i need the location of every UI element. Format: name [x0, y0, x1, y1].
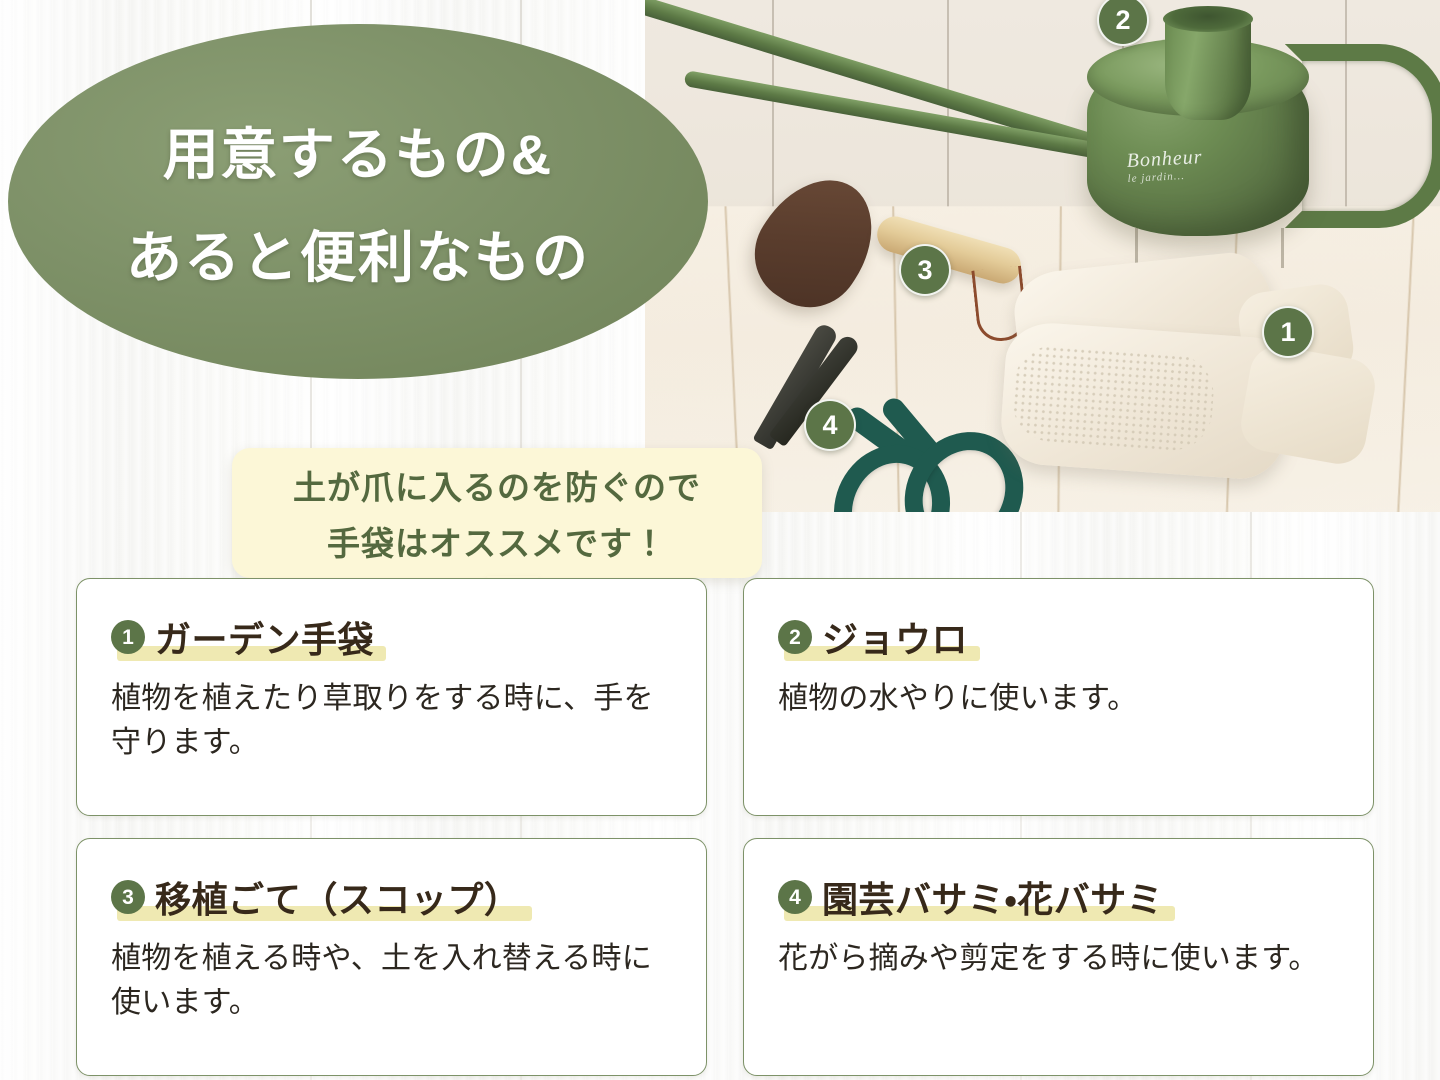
item-card-1-body: 植物を植えたり草取りをする時に、手を守ります。	[111, 677, 672, 766]
item-card-1-badge: 1	[111, 620, 145, 654]
item-card-2-badge: 2	[778, 620, 812, 654]
photo-pin-1: 1	[1262, 306, 1314, 358]
garden-glove-grip-dots	[1010, 343, 1216, 453]
wall-plank	[772, 0, 774, 225]
page-title-line-2: あると便利なもの	[126, 213, 590, 294]
gardening-tools-photo: Bonheur le jardin... 1 2 3	[645, 0, 1440, 512]
watering-can-brand-text: Bonheur	[1126, 146, 1203, 172]
photo-pin-2-label: 2	[1115, 7, 1130, 34]
infographic-root: Bonheur le jardin... 1 2 3	[0, 0, 1440, 1080]
photo-pin-3-label: 3	[917, 257, 932, 284]
item-card-2-head: 2 ジョウロ	[778, 611, 968, 663]
wall-plank	[947, 0, 949, 225]
page-title-line-1: 用意するもの&	[163, 110, 553, 191]
item-card-3-badge-label: 3	[122, 887, 134, 908]
item-card-2-title: ジョウロ	[822, 611, 968, 663]
item-card-4-badge-label: 4	[789, 887, 801, 908]
item-card-2-body: 植物の水やりに使います。	[778, 677, 1339, 721]
item-card-4-head: 4 園芸バサミ・花バサミ	[778, 871, 1163, 923]
item-card-3-head: 3 移植ごて（スコップ）	[111, 871, 520, 923]
watering-can-brand-mark: Bonheur le jardin...	[1126, 146, 1204, 186]
item-card-3-badge: 3	[111, 880, 145, 914]
watering-can-brand-sub: le jardin...	[1127, 169, 1203, 186]
item-card-1-title: ガーデン手袋	[155, 611, 374, 663]
photo-pin-1-label: 1	[1280, 319, 1295, 346]
deck-plank	[1397, 206, 1415, 512]
item-card-4-body: 花がら摘みや剪定をする時に使います。	[778, 937, 1339, 981]
item-cards-grid: 1 ガーデン手袋 植物を植えたり草取りをする時に、手を守ります。 2 ジョウロ …	[76, 578, 1374, 1076]
item-card-3-body: 植物を植える時や、土を入れ替える時に使います。	[111, 937, 672, 1026]
tip-callout-line-2: 手袋はオススメです！	[327, 517, 667, 565]
item-card-1-head: 1 ガーデン手袋	[111, 611, 374, 663]
item-card-2-badge-label: 2	[789, 627, 801, 648]
photo-pin-4-label: 4	[822, 412, 837, 439]
item-card-2: 2 ジョウロ 植物の水やりに使います。	[743, 578, 1374, 816]
item-card-3: 3 移植ごて（スコップ） 植物を植える時や、土を入れ替える時に使います。	[76, 838, 707, 1076]
tip-callout-line-1: 土が爪に入るのを防ぐので	[293, 461, 701, 509]
item-card-4: 4 園芸バサミ・花バサミ 花がら摘みや剪定をする時に使います。	[743, 838, 1374, 1076]
item-card-3-title: 移植ごて（スコップ）	[155, 871, 520, 923]
item-card-1-badge-label: 1	[122, 627, 134, 648]
page-title: 用意するもの& あると便利なもの	[8, 24, 708, 379]
item-card-1: 1 ガーデン手袋 植物を植えたり草取りをする時に、手を守ります。	[76, 578, 707, 816]
watering-can-opening	[1163, 6, 1253, 32]
photo-pin-4: 4	[804, 399, 856, 451]
photo-pin-3: 3	[899, 244, 951, 296]
garden-glove-cuff	[1237, 342, 1379, 468]
watering-can-leg	[1281, 228, 1284, 268]
item-card-4-title: 園芸バサミ・花バサミ	[822, 871, 1163, 923]
tip-callout: 土が爪に入るのを防ぐので 手袋はオススメです！	[232, 448, 762, 578]
item-card-4-badge: 4	[778, 880, 812, 914]
